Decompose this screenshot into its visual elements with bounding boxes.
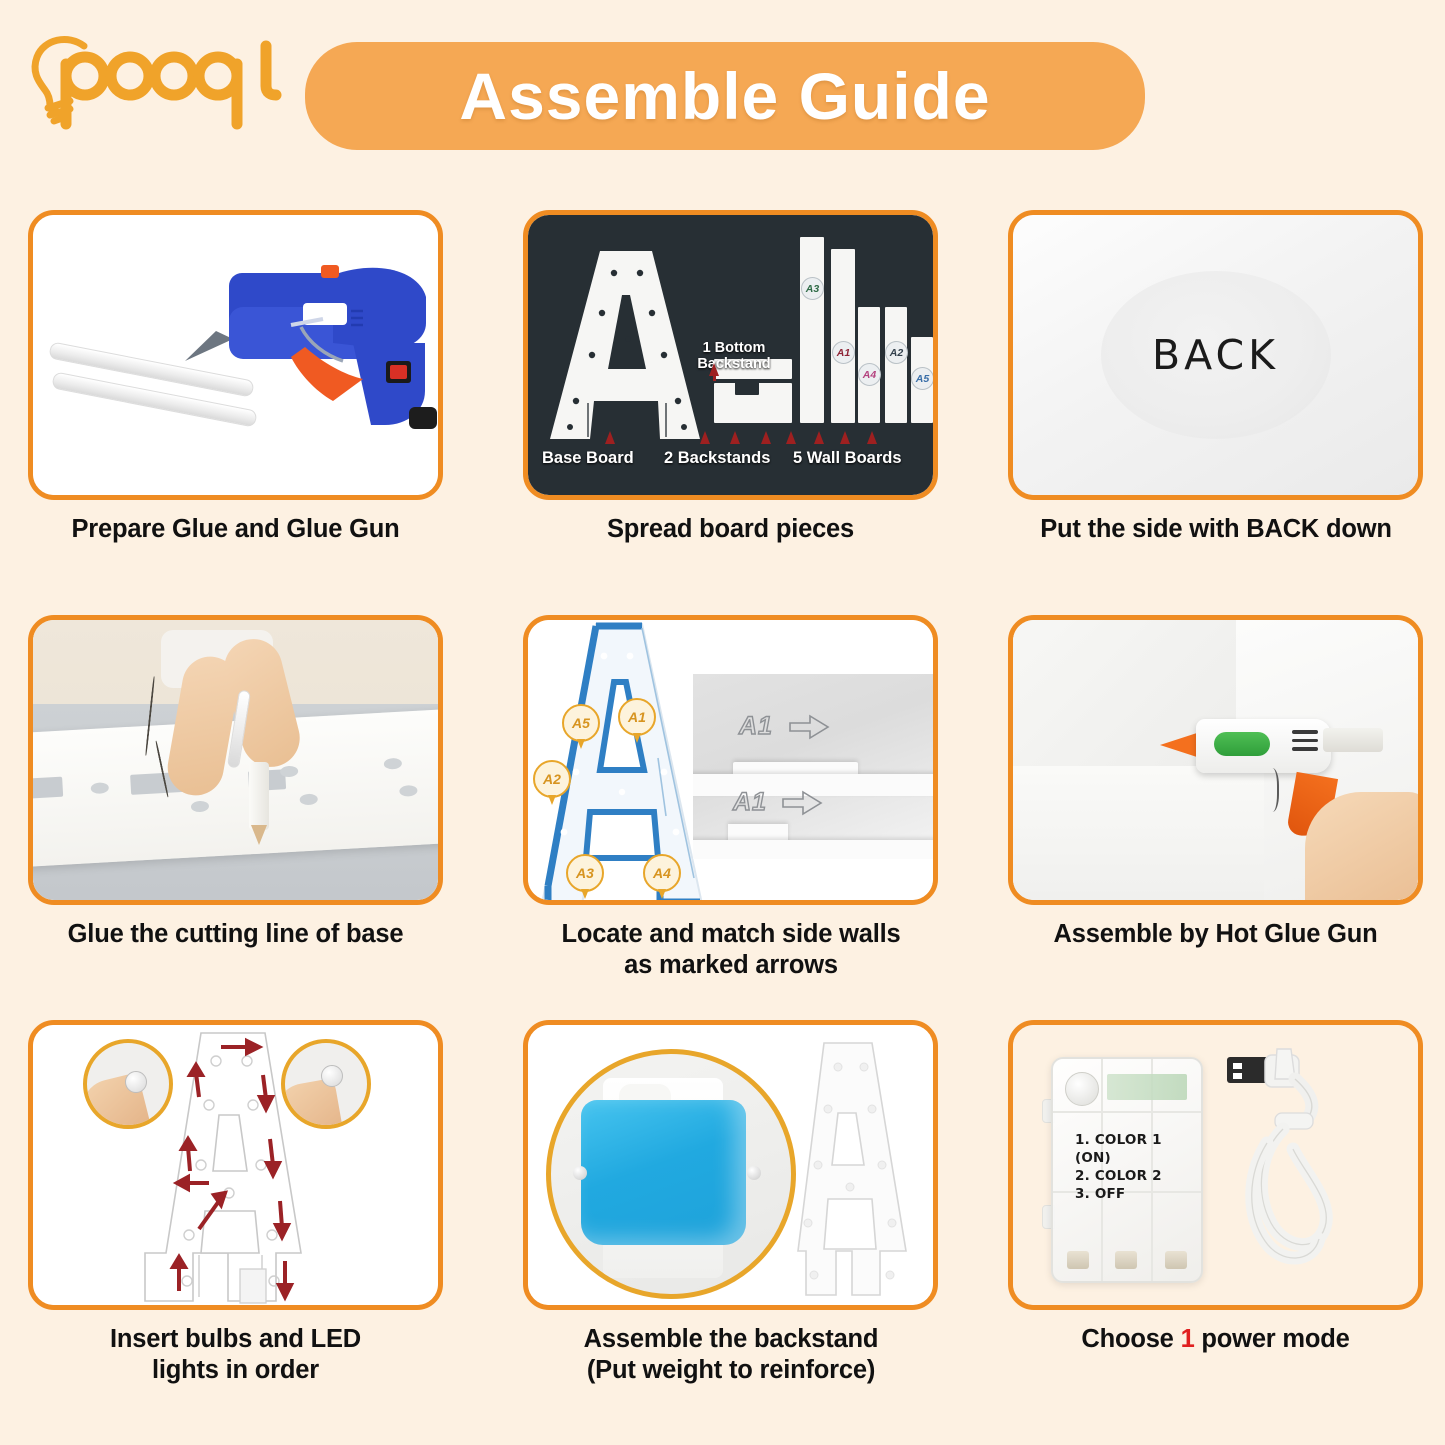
badge-a5: A5 [911, 367, 933, 390]
mark-arrow-upper-icon [788, 714, 832, 740]
power-mode-3: 3. OFF [1075, 1185, 1201, 1203]
arrow-backstand-2 [730, 431, 740, 444]
arrow-wall-2 [786, 431, 796, 444]
gluing-base-photo [33, 620, 438, 900]
bulb-hole [384, 757, 403, 769]
bottom-backstand-label-line2: Backstand [678, 356, 790, 372]
step-4-image-frame [28, 615, 443, 905]
badge-a4-label: A4 [863, 369, 876, 381]
step-card-9: 1. COLOR 1 (ON) 2. COLOR 2 3. OFF [1008, 1020, 1423, 1355]
bulb-hole [299, 793, 318, 805]
step-9-image-frame: 1. COLOR 1 (ON) 2. COLOR 2 3. OFF [1008, 1020, 1423, 1310]
water-weight-bag [581, 1100, 746, 1245]
badge-a4-label: A4 [653, 865, 671, 881]
bulb-hole [191, 800, 210, 812]
badge-a3: A3 [566, 854, 604, 892]
step-8-caption-line1: Assemble the backstand [496, 1324, 966, 1355]
badge-a4: A4 [858, 363, 881, 386]
step-4-caption: Glue the cutting line of base [28, 919, 443, 950]
glue-gun-wire-stand [1263, 768, 1279, 812]
board-slot [33, 776, 63, 798]
step-card-4: Glue the cutting line of base [28, 615, 443, 950]
step-card-5: A5 A1 A2 A3 A4 [523, 615, 938, 980]
mark-arrow-lower-icon [781, 790, 825, 816]
glue-stick-loaded [1323, 728, 1383, 752]
glue-gun-label [1214, 732, 1270, 756]
battery-case: 1. COLOR 1 (ON) 2. COLOR 2 3. OFF [1051, 1057, 1203, 1283]
backstand-notch [735, 381, 759, 395]
back-panel-photo: BACK [1013, 215, 1418, 495]
badge-a2: A2 [533, 760, 571, 798]
bottom-backstand-label: 1 Bottom Backstand [678, 340, 790, 372]
step-6-image-frame [1008, 615, 1423, 905]
badge-a5: A5 [562, 704, 600, 742]
badge-a3-label: A3 [806, 283, 819, 295]
board-surface-lower [693, 840, 933, 859]
step-card-1: Prepare Glue and Glue Gun [28, 210, 443, 545]
badge-a2-label: A2 [890, 347, 903, 359]
side-walls-diagram: A5 A1 A2 A3 A4 [528, 620, 933, 900]
step-5-image-frame: A5 A1 A2 A3 A4 [523, 615, 938, 905]
step-card-8: Assemble the backstand (Put weight to re… [523, 1020, 938, 1385]
hot-glue-gun-icon [1196, 719, 1331, 773]
step-3-image-frame: BACK [1008, 210, 1423, 500]
badge-a3-label: A3 [576, 865, 594, 881]
step-9-caption-prefix: Choose [1081, 1325, 1180, 1353]
power-switch-button[interactable] [1065, 1072, 1099, 1106]
bottom-backstand-arrow [709, 363, 719, 376]
usb-cable-icon [1221, 1043, 1391, 1293]
inset-photo-water-weight [546, 1049, 796, 1299]
glue-applicator [249, 762, 269, 830]
mark-a1-lower: A1 [733, 788, 767, 817]
bottom-backstand-label-line1: 1 Bottom [678, 340, 790, 356]
step-7-caption-line1: Insert bulbs and LED [28, 1324, 443, 1355]
arrow-wall-3 [814, 431, 824, 444]
back-label: BACK [1152, 331, 1279, 379]
case-divider-horizontal [1053, 1111, 1201, 1113]
badge-a1-label: A1 [628, 709, 646, 725]
glue-gun-icon [33, 215, 438, 495]
bulb-order-diagram [33, 1025, 438, 1305]
badge-a4: A4 [643, 854, 681, 892]
step-8-image-frame [523, 1020, 938, 1310]
step-5-caption-line1: Locate and match side walls [496, 919, 966, 950]
hot-glue-gun-photo [1013, 620, 1418, 900]
badge-a3: A3 [801, 277, 824, 300]
glue-gun-vents [1292, 730, 1318, 758]
battery-cell [1115, 1251, 1137, 1269]
brand-name: pooqla [26, 24, 74, 28]
screw-right [747, 1166, 761, 1180]
step-2-image-frame: A3 A1 A4 A2 A5 1 Bottom Backstand [523, 210, 938, 500]
bulb-hole [90, 782, 109, 794]
step-7-image-frame [28, 1020, 443, 1310]
badge-a1: A1 [618, 698, 656, 736]
wall-board-a1 [831, 249, 855, 423]
arrow-wall-5 [867, 431, 877, 444]
step-1-caption: Prepare Glue and Glue Gun [28, 514, 443, 545]
wall-board-a3 [800, 237, 824, 423]
bulb-hole [399, 785, 418, 797]
glue-gun-nozzle [1160, 732, 1200, 758]
badge-a1-label: A1 [837, 347, 850, 359]
step-7-caption: Insert bulbs and LED lights in order [28, 1324, 443, 1385]
power-mode-2: 2. COLOR 2 [1075, 1167, 1201, 1185]
power-modes-photo: 1. COLOR 1 (ON) 2. COLOR 2 3. OFF [1013, 1025, 1418, 1305]
badge-a2: A2 [885, 341, 908, 364]
arrow-wall-1 [761, 431, 771, 444]
mark-a1-upper: A1 [739, 712, 773, 741]
step-9-caption-highlight: 1 [1181, 1325, 1195, 1353]
board-panel-bottom [1013, 766, 1264, 900]
badge-a2-label: A2 [543, 771, 561, 787]
step-card-2: A3 A1 A4 A2 A5 1 Bottom Backstand [523, 210, 938, 545]
letter-a-with-walls [534, 620, 719, 900]
arrow-base-board [605, 431, 615, 444]
arrow-wall-4 [840, 431, 850, 444]
battery-cell [1165, 1251, 1187, 1269]
power-mode-1: 1. COLOR 1 (ON) [1075, 1131, 1201, 1167]
brand-logo: pooqla [26, 24, 296, 134]
screw-left [573, 1166, 587, 1180]
arrow-backstand-1 [700, 431, 710, 444]
backstand-weight-photo [528, 1025, 933, 1305]
page-title: Assemble Guide [459, 63, 990, 129]
step-5-caption: Locate and match side walls as marked ar… [496, 919, 966, 980]
step-9-caption-suffix: power mode [1195, 1325, 1350, 1353]
bulb-hole [280, 766, 299, 778]
base-board-label: Base Board [542, 449, 634, 468]
wall-board-a2 [885, 307, 907, 423]
step-2-caption: Spread board pieces [523, 514, 938, 545]
power-mode-list: 1. COLOR 1 (ON) 2. COLOR 2 3. OFF [1075, 1131, 1201, 1203]
letter-a-bulb-layout [33, 1025, 438, 1305]
board-pieces-diagram: A3 A1 A4 A2 A5 1 Bottom Backstand [528, 215, 933, 495]
page-header: pooqla Assemble Guide [0, 0, 1445, 175]
step-5-caption-line2: as marked arrows [496, 950, 966, 981]
step-card-6: Assemble by Hot Glue Gun [1008, 615, 1423, 950]
step-7-caption-line2: lights in order [28, 1355, 443, 1386]
badge-a5-label: A5 [916, 373, 929, 385]
step-card-3: BACK Put the side with BACK down [1008, 210, 1423, 545]
badge-a5-label: A5 [572, 715, 590, 731]
battery-cell [1067, 1251, 1089, 1269]
step-1-image-frame [28, 210, 443, 500]
side-wall-marking-photo: A1 A1 [693, 674, 933, 859]
wall-boards-label: 5 Wall Boards [793, 449, 902, 468]
step-9-caption: Choose 1 power mode [1008, 1324, 1423, 1355]
lightbulb-icon: pooqla [26, 24, 296, 134]
hand [1305, 792, 1418, 900]
step-8-caption: Assemble the backstand (Put weight to re… [496, 1324, 966, 1385]
step-card-7: Insert bulbs and LED lights in order [28, 1020, 443, 1385]
glue-applicator-tip [251, 825, 267, 845]
glue-gun-photo [33, 215, 438, 495]
step-8-caption-line2: (Put weight to reinforce) [496, 1355, 966, 1386]
circuit-board [1107, 1074, 1187, 1100]
backstands-label: 2 Backstands [664, 449, 770, 468]
badge-a1: A1 [832, 341, 855, 364]
step-6-caption: Assemble by Hot Glue Gun [1008, 919, 1423, 950]
page-title-banner: Assemble Guide [305, 42, 1145, 150]
back-circle-marking: BACK [1101, 271, 1331, 439]
steps-grid: Prepare Glue and Glue Gun [0, 180, 1445, 1445]
step-3-caption: Put the side with BACK down [986, 514, 1445, 545]
assembled-letter-a [776, 1037, 921, 1303]
